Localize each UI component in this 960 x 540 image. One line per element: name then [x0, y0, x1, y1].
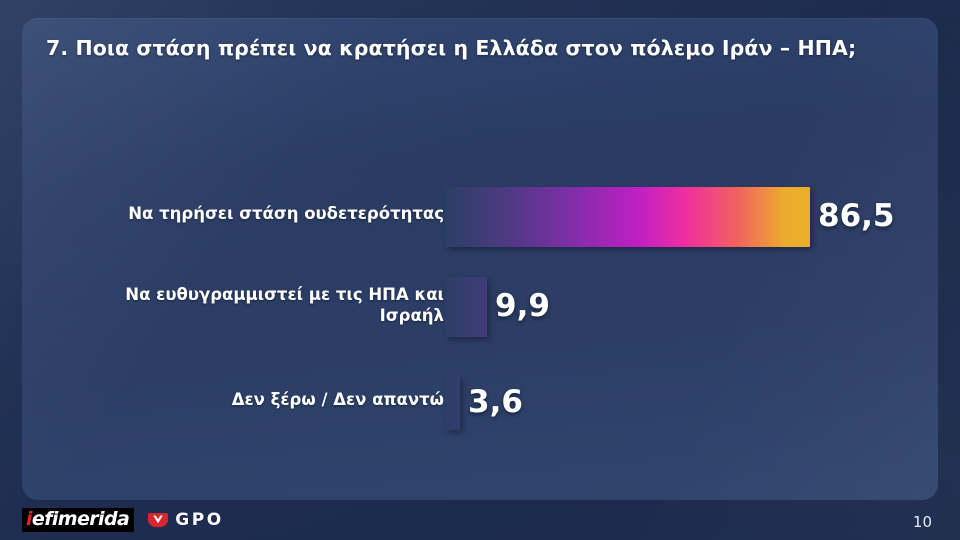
bar-row: Δεν ξέρω / Δεν απαντώ 3,6 — [22, 375, 938, 430]
gpo-checkmark-icon — [148, 512, 168, 528]
bar-fill — [445, 277, 487, 337]
logo-group: iefimerida GPO — [22, 508, 224, 532]
iefimerida-logo-rest: efimerida — [32, 508, 129, 530]
bar-value: 86,5 — [818, 201, 895, 232]
gpo-logo-text: GPO — [175, 512, 224, 529]
slide: 7. Ποια στάση πρέπει να κρατήσει η Ελλάδ… — [0, 0, 960, 540]
bar-value: 9,9 — [495, 291, 550, 322]
bar-label: Δεν ξέρω / Δεν απαντώ — [74, 389, 444, 410]
footer: iefimerida GPO 10 — [0, 500, 960, 540]
bar-label: Να ευθυγραμμιστεί με τις ΗΠΑ και Ισραήλ — [74, 284, 444, 326]
bar-track — [445, 277, 487, 337]
bar-fill — [445, 375, 460, 430]
bar-fill — [445, 187, 810, 247]
page-number: 10 — [913, 515, 932, 530]
bar-chart: Να τηρήσει στάση ουδετερότητας 86,5 Να ε… — [22, 18, 938, 500]
bar-value: 3,6 — [468, 387, 523, 418]
gpo-logo: GPO — [148, 512, 224, 529]
bar-row: Να τηρήσει στάση ουδετερότητας 86,5 — [22, 187, 938, 247]
bar-row: Να ευθυγραμμιστεί με τις ΗΠΑ και Ισραήλ … — [22, 277, 938, 337]
content-panel: 7. Ποια στάση πρέπει να κρατήσει η Ελλάδ… — [22, 18, 938, 500]
bar-track — [445, 375, 460, 430]
bar-track — [445, 187, 810, 247]
bar-label: Να τηρήσει στάση ουδετερότητας — [74, 203, 444, 224]
iefimerida-logo: iefimerida — [22, 508, 134, 532]
